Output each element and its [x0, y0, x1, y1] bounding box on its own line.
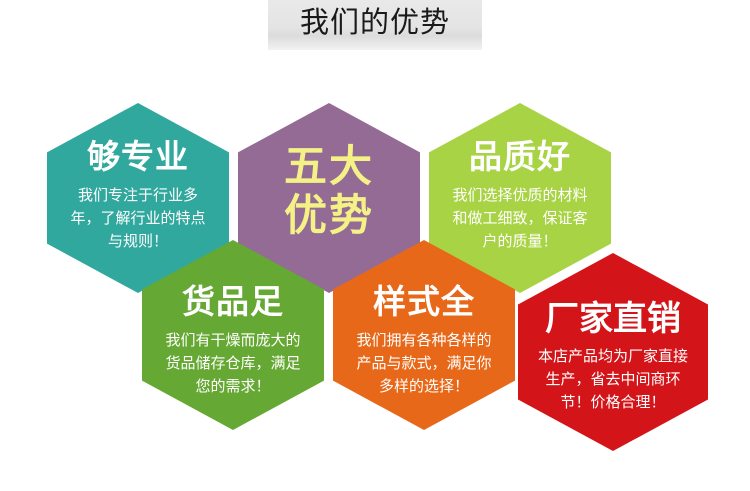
hexagon-professional-title: 够专业	[87, 103, 189, 175]
hexagon-styles-body: 我们拥有各种各样的产品与款式，满足你多样的选择！	[355, 320, 493, 399]
center-headline-line2: 优势	[284, 192, 374, 241]
center-headline: 五大 优势	[284, 103, 374, 241]
center-headline-line1: 五大	[284, 143, 374, 192]
header-banner: 我们的优势	[0, 0, 750, 50]
hexagon-factory-direct[interactable]: 厂家直销 本店产品均为厂家直接生产，省去中间商环节！价格合理！	[518, 253, 708, 451]
hexagon-quality-body: 我们选择优质的材料和做工细致，保证客户的质量！	[451, 175, 589, 254]
hexagon-factory-direct-body: 本店产品均为厂家直接生产，省去中间商环节！价格合理！	[538, 338, 688, 415]
page-title: 我们的优势	[268, 0, 482, 44]
hexagon-stock-body: 我们有干燥而庞大的货品储存仓库，满足您的需求！	[164, 320, 302, 399]
hexagon-professional-body: 我们专注于行业多年，了解行业的特点与规则！	[69, 175, 207, 254]
hexagon-grid: 够专业 我们专注于行业多年，了解行业的特点与规则！ 五大 优势 品质好 我们选择…	[0, 50, 750, 491]
hexagon-quality-title: 品质好	[469, 103, 571, 175]
